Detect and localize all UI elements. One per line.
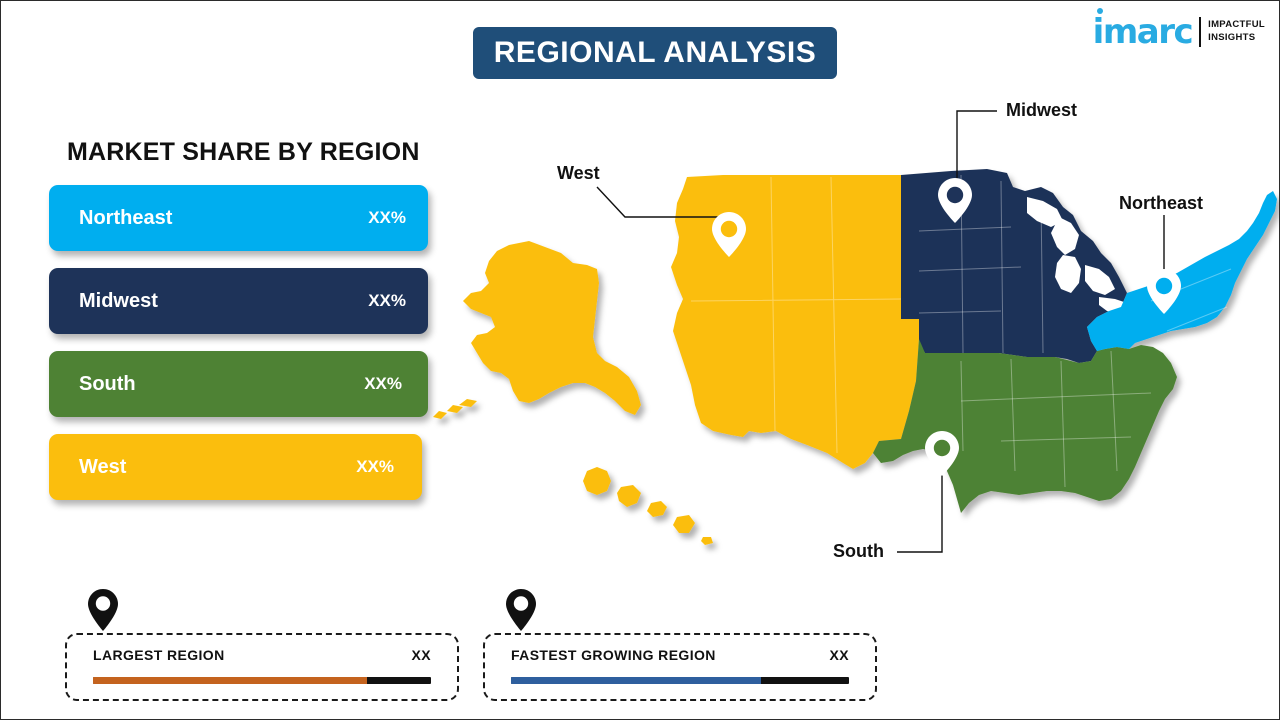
leader-line-south xyxy=(897,475,942,552)
us-regional-map xyxy=(1,1,1280,720)
map-label-midwest: Midwest xyxy=(1006,100,1077,121)
map-region-hawaii[interactable] xyxy=(583,467,611,495)
map-label-west: West xyxy=(557,163,600,184)
map-region-west[interactable] xyxy=(671,175,919,469)
map-label-northeast: Northeast xyxy=(1119,193,1203,214)
slide-canvas: REGIONAL ANALYSIS imarc IMPACTFUL INSIGH… xyxy=(0,0,1280,720)
map-region-alaska[interactable] xyxy=(463,241,641,415)
map-region-south[interactable] xyxy=(873,339,1177,513)
map-landmass-group xyxy=(433,169,1277,545)
map-label-south: South xyxy=(833,541,884,562)
